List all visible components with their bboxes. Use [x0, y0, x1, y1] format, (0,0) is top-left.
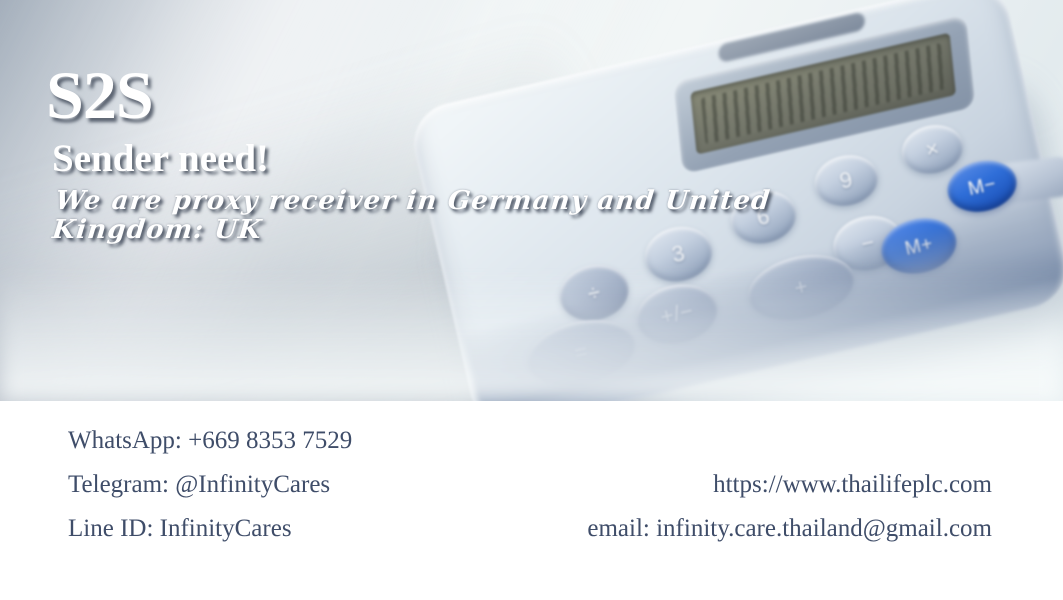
whatsapp-contact[interactable]: WhatsApp: +669 8353 7529 [68, 419, 352, 463]
email-contact[interactable]: email: infinity.care.thailand@gmail.com [587, 507, 992, 551]
headline-block: S2S Sender need! We are proxy receiver i… [46, 62, 906, 245]
page-subtitle: Sender need! [52, 137, 906, 182]
line-id-contact[interactable]: Line ID: InfinityCares [68, 507, 352, 551]
business-card-banner: 9 6 3 ÷ × − +/− = [0, 0, 1063, 600]
website-link[interactable]: https://www.thailifeplc.com [587, 463, 992, 507]
hero-banner: 9 6 3 ÷ × − +/− = [0, 0, 1063, 401]
contact-column-left: WhatsApp: +669 8353 7529 Telegram: @Infi… [68, 419, 352, 551]
contact-column-right: https://www.thailifeplc.com email: infin… [587, 463, 992, 551]
telegram-contact[interactable]: Telegram: @InfinityCares [68, 463, 352, 507]
desk-reflection-highlight [0, 271, 1063, 401]
page-title: S2S [46, 62, 906, 129]
page-tagline: We are proxy receiver in Germany and Uni… [51, 187, 909, 244]
contact-footer: WhatsApp: +669 8353 7529 Telegram: @Infi… [0, 401, 1063, 600]
